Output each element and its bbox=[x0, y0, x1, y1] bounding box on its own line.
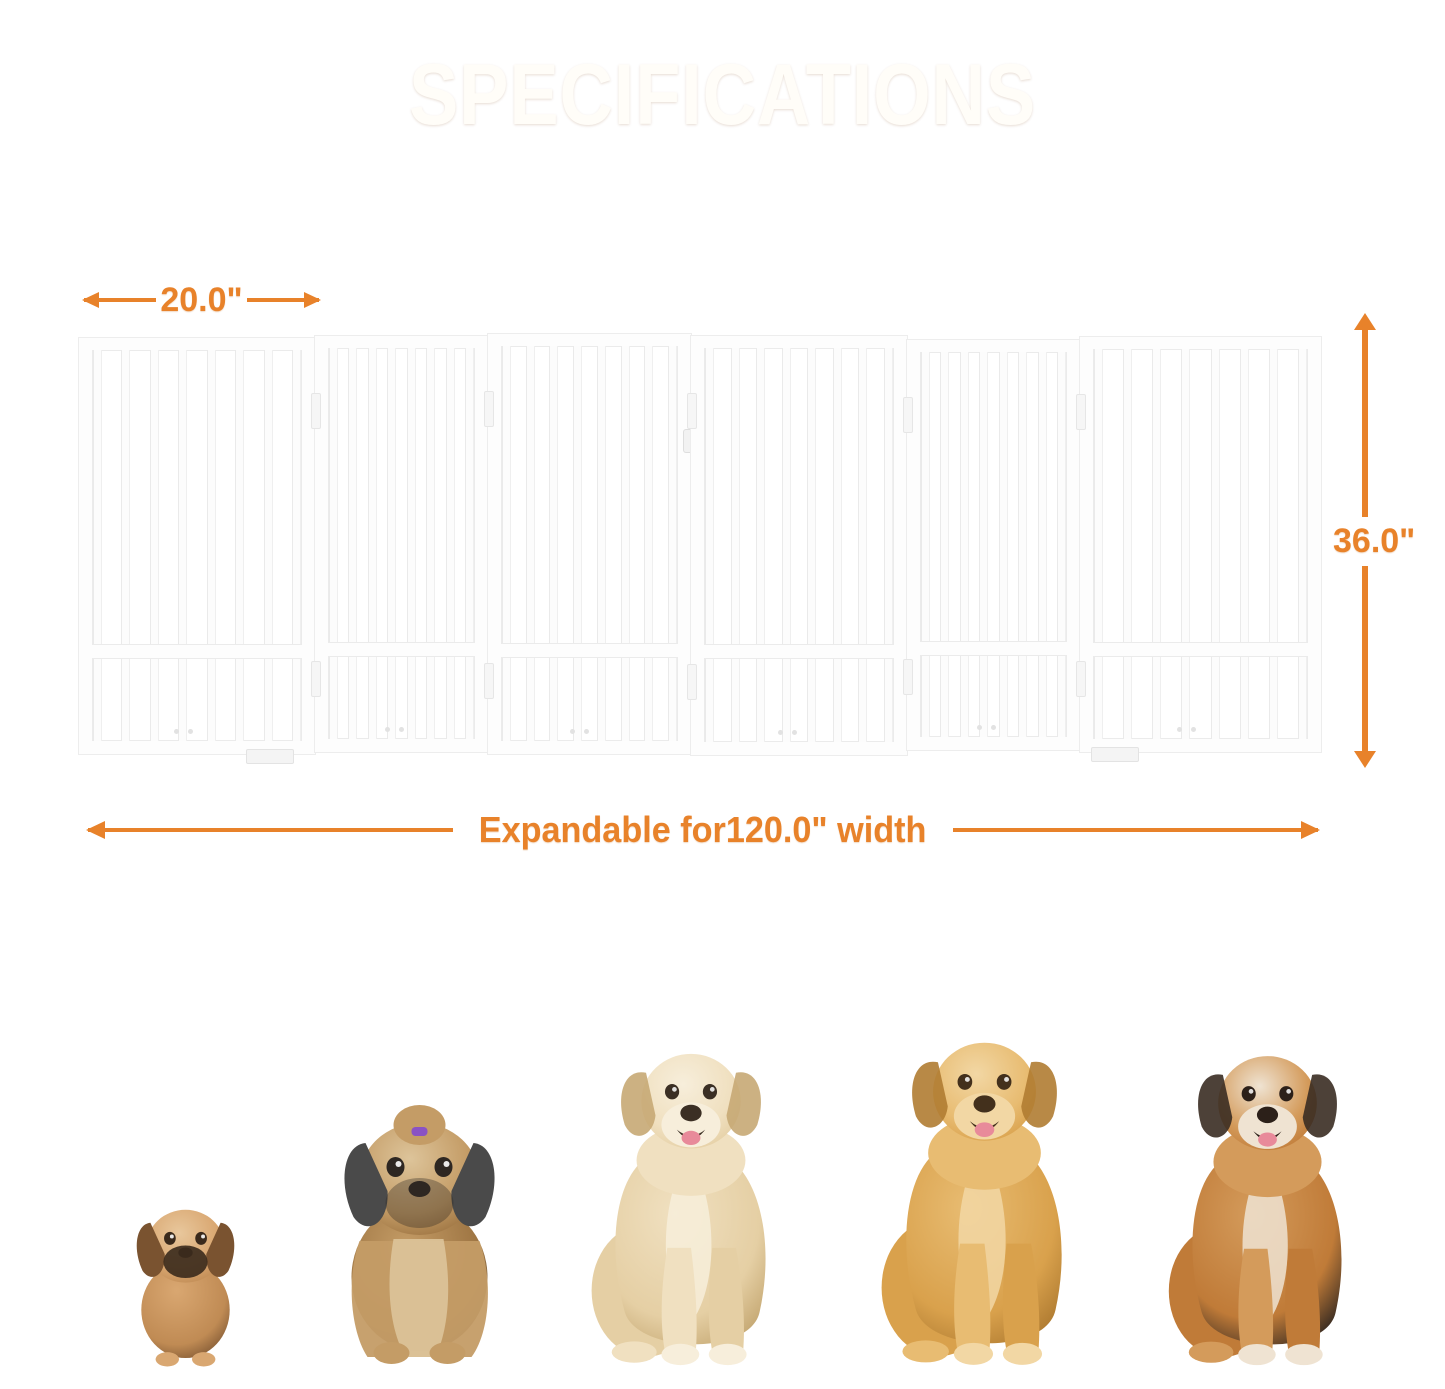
support-foot bbox=[247, 750, 293, 763]
slat bbox=[706, 348, 713, 742]
slat bbox=[783, 348, 790, 742]
screw bbox=[977, 725, 982, 730]
screw bbox=[399, 727, 404, 732]
page-title: SPECIFICATIONS bbox=[101, 52, 1344, 138]
arrow-right-icon bbox=[247, 298, 319, 302]
dog-size-comparison-row bbox=[0, 875, 1445, 1389]
dog-shepherd-mix bbox=[1150, 911, 1385, 1371]
panel-width-label: 20.0" bbox=[156, 281, 246, 320]
support-foot bbox=[1092, 748, 1138, 761]
slat bbox=[527, 346, 534, 741]
hinge bbox=[312, 662, 320, 696]
dog-yorkshire-terrier bbox=[312, 1071, 527, 1371]
slat bbox=[859, 348, 866, 742]
slat bbox=[574, 346, 581, 741]
slat bbox=[1212, 349, 1219, 739]
panel-horizontal-rail bbox=[92, 645, 302, 658]
slat bbox=[980, 352, 987, 737]
slat bbox=[669, 346, 676, 741]
hinge bbox=[1077, 662, 1085, 696]
gate-panel-1 bbox=[78, 337, 316, 755]
slat bbox=[941, 352, 948, 737]
hinge bbox=[688, 665, 696, 699]
gate-panel-3 bbox=[487, 333, 692, 755]
slat bbox=[1299, 349, 1306, 739]
slat bbox=[1039, 352, 1046, 737]
slat bbox=[1241, 349, 1248, 739]
slat bbox=[1000, 352, 1007, 737]
slat bbox=[265, 350, 272, 741]
specifications-header-banner: SPECIFICATIONS bbox=[0, 0, 1445, 215]
slat bbox=[1019, 352, 1026, 737]
slat bbox=[369, 348, 376, 739]
slat bbox=[447, 348, 454, 739]
slat bbox=[1270, 349, 1277, 739]
panel-frame bbox=[1080, 337, 1321, 752]
slat bbox=[732, 348, 739, 742]
panel-horizontal-rail bbox=[1093, 643, 1308, 656]
panel-slats bbox=[328, 348, 475, 739]
hinge bbox=[904, 660, 912, 694]
hinge bbox=[904, 398, 912, 432]
slat bbox=[427, 348, 434, 739]
slat bbox=[388, 348, 395, 739]
panel-slats bbox=[92, 350, 302, 741]
panel-horizontal-rail bbox=[704, 645, 894, 658]
hinge bbox=[485, 392, 493, 426]
panel-frame bbox=[79, 338, 315, 754]
slat bbox=[408, 348, 415, 739]
slat bbox=[885, 348, 892, 742]
panel-frame bbox=[691, 336, 907, 755]
panel-width-dimension: 20.0" bbox=[84, 277, 319, 323]
gate-panel-4 bbox=[690, 335, 908, 756]
panel-slats bbox=[920, 352, 1067, 737]
panel-horizontal-rail bbox=[501, 644, 678, 657]
hinge bbox=[312, 394, 320, 428]
slat bbox=[922, 352, 929, 737]
screw bbox=[991, 725, 996, 730]
panel-slats bbox=[501, 346, 678, 741]
slat bbox=[1153, 349, 1160, 739]
gate-panel-2 bbox=[314, 335, 489, 753]
slat bbox=[757, 348, 764, 742]
dog-illustration bbox=[566, 1016, 816, 1371]
screw bbox=[584, 729, 589, 734]
slat bbox=[236, 350, 243, 741]
slat bbox=[349, 348, 356, 739]
gate-panel-5 bbox=[906, 339, 1081, 751]
panel-slats bbox=[1093, 349, 1308, 739]
gate-panel-6 bbox=[1079, 336, 1322, 753]
dog-illustration bbox=[312, 1071, 527, 1371]
slat bbox=[598, 346, 605, 741]
arrow-left-icon bbox=[84, 298, 156, 302]
slat bbox=[1095, 349, 1102, 739]
screw bbox=[570, 729, 575, 734]
hinge bbox=[1077, 395, 1085, 429]
height-label: 36.0" bbox=[1330, 517, 1418, 566]
panel-horizontal-rail bbox=[328, 643, 475, 656]
slat bbox=[645, 346, 652, 741]
dog-golden-retriever bbox=[862, 946, 1107, 1371]
slat bbox=[961, 352, 968, 737]
panel-horizontal-rail bbox=[920, 642, 1067, 655]
slat bbox=[466, 348, 473, 739]
dog-illustration bbox=[78, 1176, 293, 1371]
dog-illustration bbox=[1150, 911, 1385, 1371]
slat bbox=[622, 346, 629, 741]
slat bbox=[330, 348, 337, 739]
slat bbox=[1182, 349, 1189, 739]
slat bbox=[179, 350, 186, 741]
expandable-width-dimension: Expandable for120.0" width bbox=[88, 807, 1318, 853]
panel-frame bbox=[315, 336, 488, 752]
hinge bbox=[688, 394, 696, 428]
expandable-width-label: Expandable for120.0" width bbox=[466, 809, 940, 851]
hinge bbox=[485, 664, 493, 698]
slat bbox=[293, 350, 300, 741]
screw bbox=[385, 727, 390, 732]
slat bbox=[1124, 349, 1131, 739]
slat bbox=[550, 346, 557, 741]
dog-illustration bbox=[862, 946, 1107, 1371]
slat bbox=[1058, 352, 1065, 737]
slat bbox=[808, 348, 815, 742]
arrow-right-long-icon bbox=[953, 828, 1318, 832]
dog-labrador-puppy bbox=[566, 1016, 816, 1371]
panel-slats bbox=[704, 348, 894, 742]
slat bbox=[151, 350, 158, 741]
panel-frame bbox=[907, 340, 1080, 750]
slat bbox=[834, 348, 841, 742]
dog-pekingese-puppy bbox=[78, 1176, 293, 1371]
slat bbox=[94, 350, 101, 741]
product-dimension-diagram: 20.0" 36.0" Expandable for120.0" width bbox=[0, 215, 1445, 875]
slat bbox=[208, 350, 215, 741]
slat bbox=[503, 346, 510, 741]
panel-frame bbox=[488, 334, 691, 754]
slat bbox=[122, 350, 129, 741]
arrow-left-long-icon bbox=[88, 828, 453, 832]
pet-gate-illustration bbox=[78, 333, 1328, 758]
